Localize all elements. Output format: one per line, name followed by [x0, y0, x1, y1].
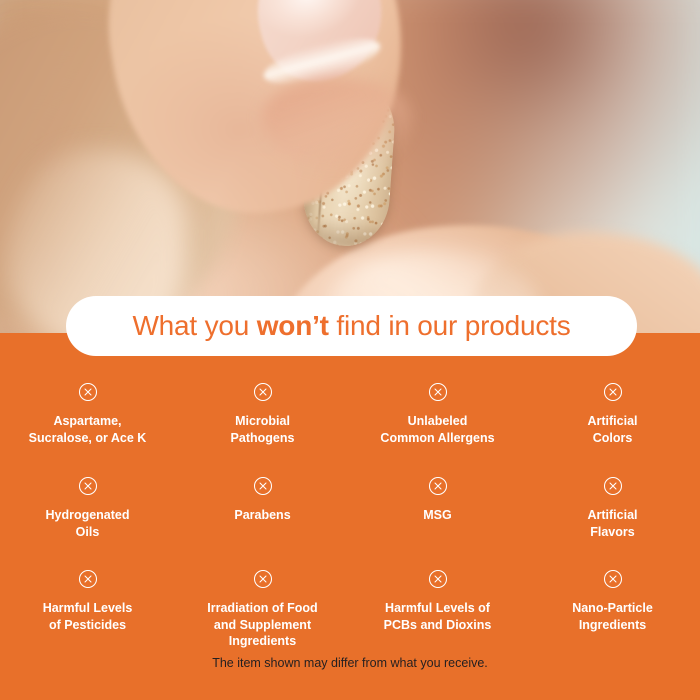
grid-item: Artificial Flavors [525, 466, 700, 559]
circle-x-icon [78, 476, 98, 496]
product-info-graphic: What you won’t find in our products Aspa… [0, 0, 700, 700]
circle-x-icon [253, 476, 273, 496]
circle-x-icon [78, 382, 98, 402]
grid-item: Parabens [175, 466, 350, 559]
grid-item-label: Artificial Flavors [587, 507, 637, 540]
grid-item-label: Harmful Levels of PCBs and Dioxins [384, 600, 492, 633]
circle-x-icon [603, 569, 623, 589]
circle-x-icon [603, 382, 623, 402]
grid-item-label: Aspartame, Sucralose, or Ace K [29, 413, 147, 446]
grid-item-label: MSG [423, 507, 451, 524]
product-photo [0, 0, 700, 340]
page-title: What you won’t find in our products [132, 310, 570, 342]
grid-item: Irradiation of Food and Supplement Ingre… [175, 559, 350, 661]
grid-item-label: Harmful Levels of Pesticides [43, 600, 133, 633]
grid-item: Nano-Particle Ingredients [525, 559, 700, 661]
circle-x-icon [428, 476, 448, 496]
grid-item-label: Nano-Particle Ingredients [572, 600, 653, 633]
grid-item: Artificial Colors [525, 372, 700, 466]
headline-emphasis: won’t [257, 310, 329, 341]
circle-x-icon [78, 569, 98, 589]
headline-suffix: find in our products [329, 310, 571, 341]
grid-item: Harmful Levels of PCBs and Dioxins [350, 559, 525, 661]
disclaimer-text: The item shown may differ from what you … [0, 656, 700, 670]
circle-x-icon [428, 569, 448, 589]
grid-item: Unlabeled Common Allergens [350, 372, 525, 466]
grid-item-label: Irradiation of Food and Supplement Ingre… [207, 600, 317, 650]
grid-item-label: Parabens [234, 507, 290, 524]
grid-item-label: Microbial Pathogens [231, 413, 295, 446]
grid-row: Harmful Levels of Pesticides Irradiation… [0, 559, 700, 661]
excluded-ingredients-grid: Aspartame, Sucralose, or Ace K Microbial… [0, 372, 700, 661]
circle-x-icon [253, 569, 273, 589]
grid-row: Aspartame, Sucralose, or Ace K Microbial… [0, 372, 700, 466]
grid-item: MSG [350, 466, 525, 559]
grid-item-label: Hydrogenated Oils [45, 507, 129, 540]
circle-x-icon [428, 382, 448, 402]
headline-prefix: What you [132, 310, 256, 341]
circle-x-icon [253, 382, 273, 402]
grid-row: Hydrogenated Oils Parabens MSG [0, 466, 700, 559]
grid-item-label: Unlabeled Common Allergens [380, 413, 494, 446]
circle-x-icon [603, 476, 623, 496]
grid-item: Hydrogenated Oils [0, 466, 175, 559]
grid-item: Harmful Levels of Pesticides [0, 559, 175, 661]
grid-item-label: Artificial Colors [587, 413, 637, 446]
grid-item: Aspartame, Sucralose, or Ace K [0, 372, 175, 466]
grid-item: Microbial Pathogens [175, 372, 350, 466]
headline-pill: What you won’t find in our products [66, 296, 637, 356]
